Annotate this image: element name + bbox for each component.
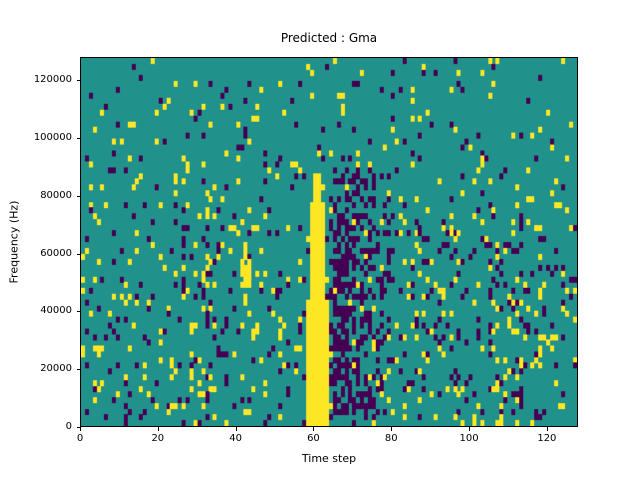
y-tick-label: 0 bbox=[66, 421, 72, 433]
x-tick-label: 100 bbox=[460, 433, 479, 445]
x-axis-label: Time step bbox=[80, 452, 578, 465]
x-tick-mark bbox=[80, 427, 81, 431]
y-tick-label: 100000 bbox=[34, 132, 72, 144]
y-axis-label: Frequency (Hz) bbox=[8, 201, 21, 284]
heatmap-canvas[interactable] bbox=[81, 58, 577, 426]
x-tick-mark bbox=[391, 427, 392, 431]
x-tick-label: 40 bbox=[229, 433, 242, 445]
y-tick-label: 80000 bbox=[40, 190, 72, 202]
y-tick-label: 120000 bbox=[34, 74, 72, 86]
y-tick-label: 60000 bbox=[40, 248, 72, 260]
y-tick-mark bbox=[77, 311, 81, 312]
y-tick-label: 20000 bbox=[40, 363, 72, 375]
x-tick-label: 0 bbox=[77, 433, 83, 445]
y-tick-mark bbox=[77, 254, 81, 255]
x-tick-mark bbox=[236, 427, 237, 431]
y-tick-mark bbox=[77, 138, 81, 139]
y-tick-mark bbox=[77, 196, 81, 197]
x-tick-mark bbox=[547, 427, 548, 431]
x-tick-label: 80 bbox=[385, 433, 398, 445]
x-tick-mark bbox=[158, 427, 159, 431]
heatmap-axes[interactable] bbox=[80, 57, 578, 427]
x-tick-label: 120 bbox=[537, 433, 556, 445]
figure-canvas: Predicted : Gma Time step Frequency (Hz)… bbox=[0, 0, 640, 480]
x-tick-mark bbox=[313, 427, 314, 431]
x-tick-label: 60 bbox=[307, 433, 320, 445]
y-tick-mark bbox=[77, 369, 81, 370]
x-tick-label: 20 bbox=[151, 433, 164, 445]
y-tick-mark bbox=[77, 80, 81, 81]
x-tick-mark bbox=[469, 427, 470, 431]
y-tick-mark bbox=[77, 427, 81, 428]
y-tick-label: 40000 bbox=[40, 305, 72, 317]
chart-title: Predicted : Gma bbox=[80, 31, 578, 45]
